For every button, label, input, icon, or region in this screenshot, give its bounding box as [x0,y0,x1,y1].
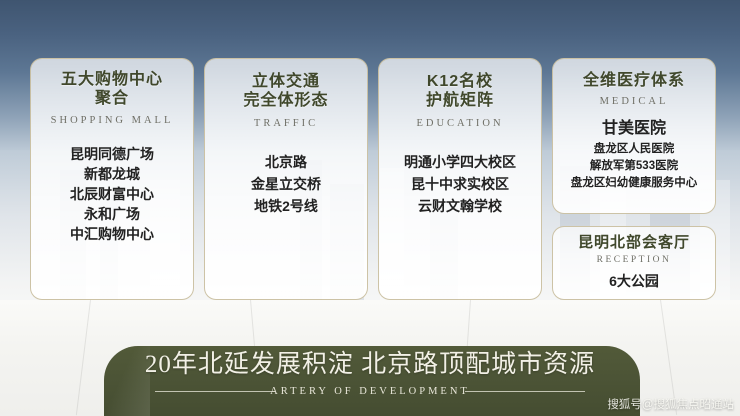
card-subtitle: EDUCATION [379,118,541,129]
card-traffic[interactable]: 立体交通完全体形态 TRAFFIC 北京路 金星立交桥 地铁2号线 [204,58,368,300]
list-item: 中汇购物中心 [70,226,154,242]
list-item: 6大公园 [609,273,659,289]
card-title: 立体交通完全体形态 [205,72,367,110]
banner-divider: ARTERY OF DEVELOPMENT [155,384,585,398]
list-item: 新都龙城 [84,166,140,182]
card-item-list: 甘美医院 盘龙区人民医院 解放军第533医院 盘龙区妇幼健康服务中心 [553,117,715,192]
card-title: 五大购物中心聚合 [31,70,193,108]
list-item: 解放军第533医院 [553,158,715,175]
card-subtitle: SHOPPING MALL [31,115,193,126]
card-title: K12名校护航矩阵 [379,72,541,110]
bottom-banner: 20年北延发展积淀 北京路顶配城市资源 ARTERY OF DEVELOPMEN… [0,338,740,416]
list-item: 金星立交桥 [251,176,321,192]
card-lead-item: 甘美医院 [553,117,715,141]
watermark: 搜狐号@搜狐焦点昭通站 [607,398,734,412]
list-item: 明通小学四大校区 [404,154,516,170]
list-item: 北辰财富中心 [70,186,154,202]
card-subtitle: TRAFFIC [205,118,367,129]
slide-canvas: 五大购物中心聚合 SHOPPING MALL 昆明同德广场 新都龙城 北辰财富中… [0,0,740,416]
card-education[interactable]: K12名校护航矩阵 EDUCATION 明通小学四大校区 昆十中求实校区 云财文… [378,58,542,300]
banner-subtitle: ARTERY OF DEVELOPMENT [266,386,474,397]
list-item: 盘龙区人民医院 [553,141,715,158]
card-reception[interactable]: 昆明北部会客厅 RECEPTION 6大公园 [552,226,716,300]
list-item: 盘龙区妇幼健康服务中心 [553,175,715,192]
card-subtitle: RECEPTION [553,255,715,265]
list-item: 北京路 [265,154,307,170]
list-item: 云财文翰学校 [418,198,502,214]
card-shopping-mall[interactable]: 五大购物中心聚合 SHOPPING MALL 昆明同德广场 新都龙城 北辰财富中… [30,58,194,300]
card-medical[interactable]: 全维医疗体系 MEDICAL 甘美医院 盘龙区人民医院 解放军第533医院 盘龙… [552,58,716,214]
card-title: 昆明北部会客厅 [553,233,715,252]
banner-title: 20年北延发展积淀 北京路顶配城市资源 [145,350,595,380]
list-item: 永和广场 [84,206,140,222]
card-item-list: 北京路 金星立交桥 地铁2号线 [205,151,367,217]
list-item: 昆十中求实校区 [411,176,509,192]
list-item: 昆明同德广场 [70,146,154,162]
card-subtitle: MEDICAL [553,96,715,107]
card-item-list: 6大公园 [553,271,715,291]
card-title: 全维医疗体系 [553,71,715,90]
card-item-list: 明通小学四大校区 昆十中求实校区 云财文翰学校 [379,151,541,217]
card-item-list: 昆明同德广场 新都龙城 北辰财富中心 永和广场 中汇购物中心 [31,144,193,244]
list-item: 地铁2号线 [254,198,318,214]
